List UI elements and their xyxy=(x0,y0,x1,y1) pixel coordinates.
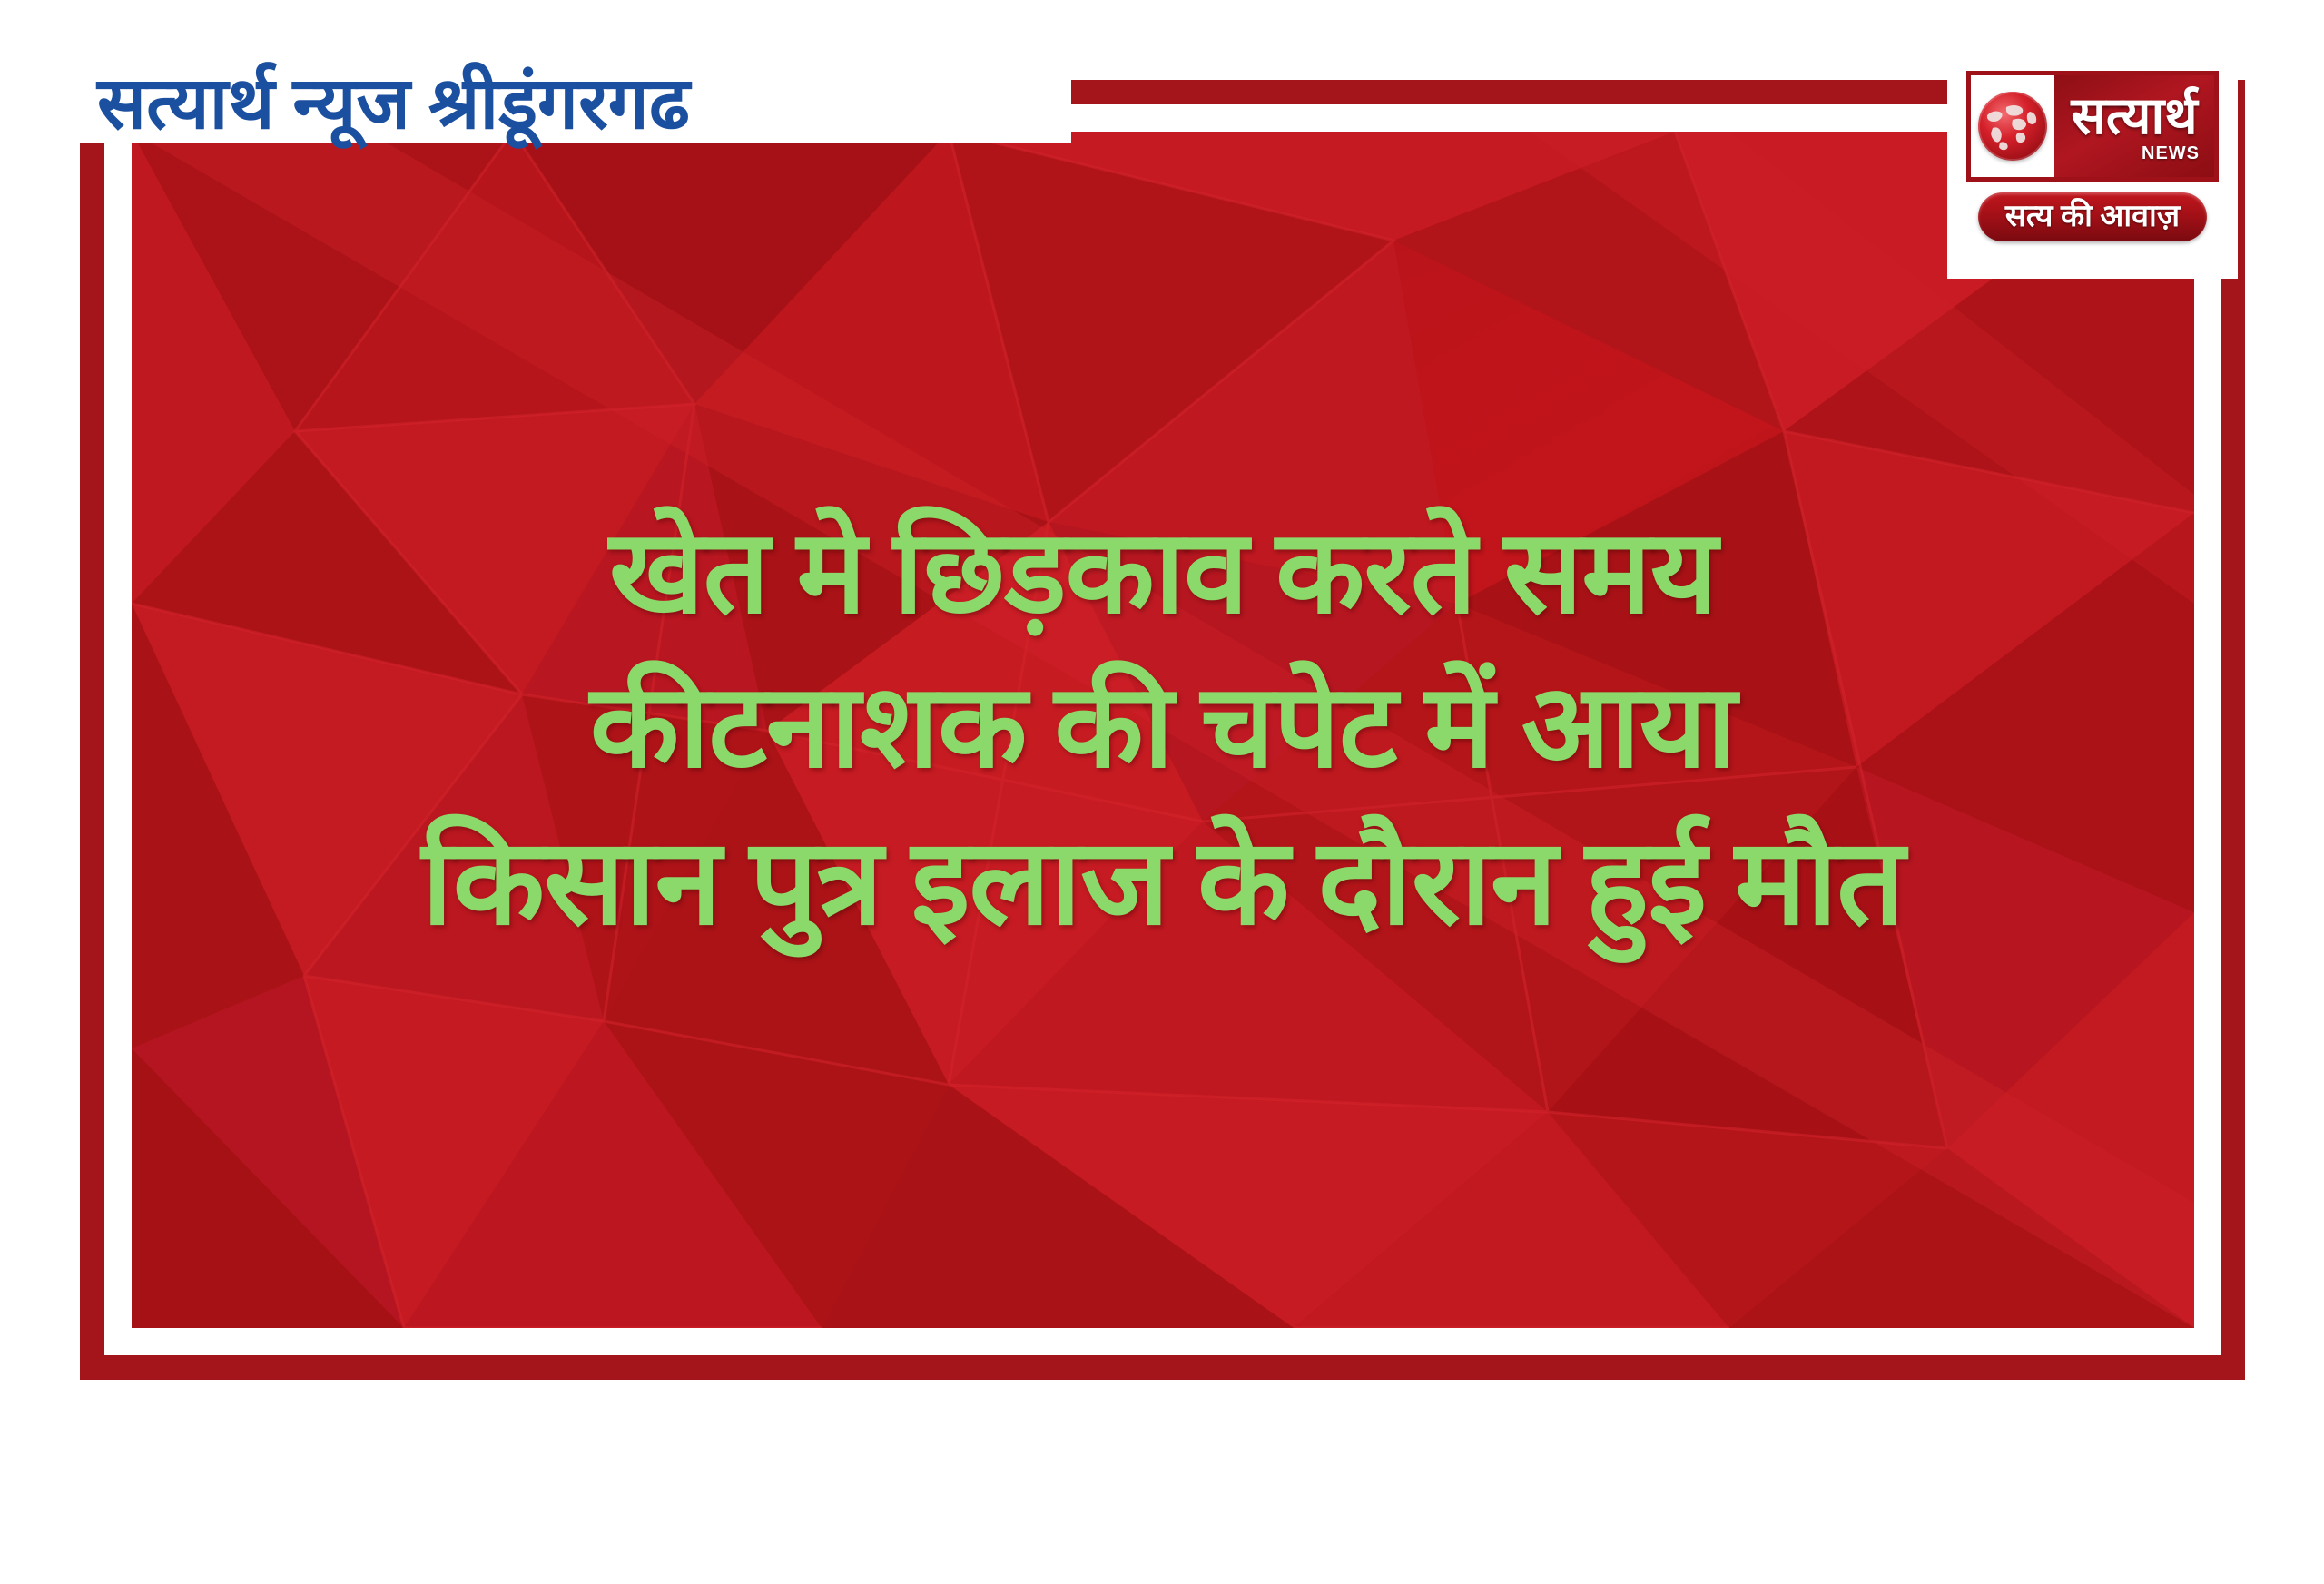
logo-tagline-text: सत्य की आवाज़ xyxy=(2005,202,2180,232)
logo-mark: सत्यार्थ NEWS xyxy=(1966,71,2219,182)
logo-globe-cell xyxy=(1971,75,2054,177)
inner-red-panel xyxy=(132,132,2194,1328)
channel-name: सत्यार्थ न्यूज श्रीडूंगरगढ xyxy=(50,68,690,143)
news-poster: खेत मे छिड़काव करते समय कीटनाशक की चपेट … xyxy=(0,0,2324,1584)
globe-icon xyxy=(1978,92,2047,161)
logo-brand-sub: NEWS xyxy=(2142,144,2200,162)
lowpoly-background xyxy=(132,132,2194,1328)
channel-strip: सत्यार्थ न्यूज श्रीडूंगरगढ xyxy=(50,47,1071,143)
logo-word-cell: सत्यार्थ NEWS xyxy=(2054,75,2214,177)
logo-panel: सत्यार्थ NEWS सत्य की आवाज़ xyxy=(1947,56,2238,279)
logo-tagline-pill: सत्य की आवाज़ xyxy=(1978,192,2207,241)
logo-brand-text: सत्यार्थ xyxy=(2071,91,2197,143)
globe-continents xyxy=(1978,92,2047,161)
